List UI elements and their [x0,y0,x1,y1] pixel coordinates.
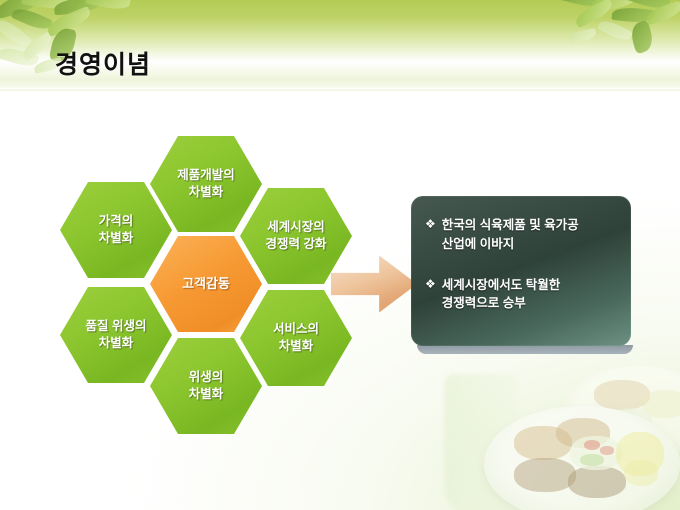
hex-center[interactable]: 고객감동 [150,234,262,334]
food-plate-photo [440,368,680,510]
hex-label: 세계시장의 경쟁력 강화 [260,219,333,253]
hex-center-label: 고객감동 [176,275,236,293]
main-plate [484,406,680,510]
bullet-text: 한국의 식육제품 및 육가공 산업에 이바지 [442,216,579,254]
page-title: 경영이념 [55,45,151,81]
header-divider [0,88,680,91]
hex-label: 가격의 차별화 [93,213,140,247]
bullet-text: 세계시장에서도 탁월한 경쟁력으로 승부 [442,276,560,314]
statement-panel: ❖ 한국의 식육제품 및 육가공 산업에 이바지 ❖ 세계시장에서도 탁월한 경… [411,196,631,346]
list-item: ❖ 한국의 식육제품 및 육가공 산업에 이바지 [425,216,621,254]
right-arrow-icon [331,253,417,315]
list-item: ❖ 세계시장에서도 탁월한 경쟁력으로 승부 [425,276,621,314]
diamond-bullet-icon: ❖ [425,276,436,293]
bullet-list: ❖ 한국의 식육제품 및 육가공 산업에 이바지 ❖ 세계시장에서도 탁월한 경… [425,216,621,335]
slide-canvas: 경영이념 가격의 차별화 품질 위생의 차별화 제품개발의 차별화 위생의 차별… [0,0,680,510]
hex-label: 위생의 차별화 [183,369,230,403]
diamond-bullet-icon: ❖ [425,216,436,233]
hex-label: 서비스의 차별화 [267,321,325,355]
hex-label: 제품개발의 차별화 [171,167,241,201]
hex-face: 고객감동 [150,234,262,334]
panel-shadow [417,345,633,354]
arrow-body [331,253,417,315]
hex-label: 품질 위생의 차별화 [80,318,153,352]
